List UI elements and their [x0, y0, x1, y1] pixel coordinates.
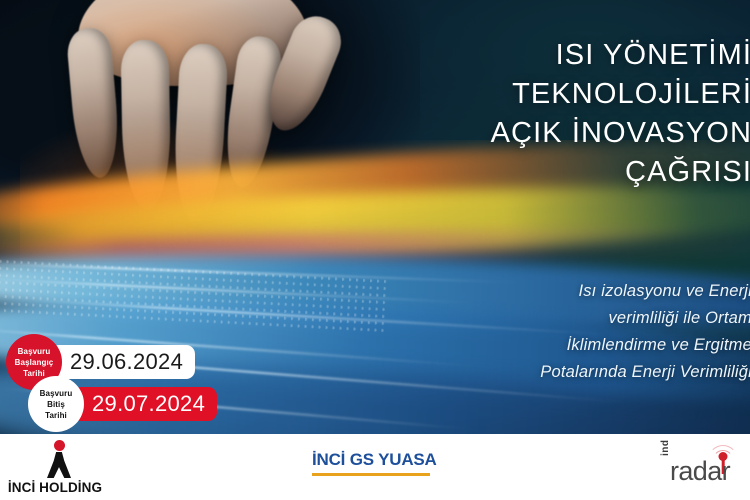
logo-ind-radar[interactable]: ind radar — [654, 444, 750, 492]
logo-inci-gs-yuasa-wordmark: İNCİ GS YUASA — [312, 450, 440, 470]
end-date-label-line-3: Tarihi — [45, 410, 67, 421]
sponsor-logo-bar: İNCİ HOLDİNG İNCİ GS YUASA ind radar — [0, 434, 750, 500]
logo-inci-gs-yuasa-underline — [312, 473, 430, 476]
person-head-icon — [54, 440, 65, 451]
page-subtitle: Isı izolasyonu ve Enerji verimliliği ile… — [422, 278, 750, 386]
logo-ind-radar-wordmark: radar — [670, 456, 730, 487]
headline-line-1: ISI YÖNETİMİ — [422, 36, 750, 75]
person-body-icon — [47, 452, 71, 478]
promo-poster: ISI YÖNETİMİ TEKNOLOJİLERİ AÇIK İNOVASYO… — [0, 0, 750, 500]
logo-ind-radar-prefix: ind — [660, 440, 671, 457]
logo-inci-holding[interactable]: İNCİ HOLDİNG — [0, 440, 120, 496]
start-date-label-line-2: Başlangıç — [15, 357, 54, 368]
subtitle-line-2: verimliliği ile Ortam — [422, 305, 750, 332]
subtitle-line-3: İklimlendirme ve Ergitme — [422, 332, 750, 359]
subtitle-line-1: Isı izolasyonu ve Enerji — [422, 278, 750, 305]
logo-inci-gs-yuasa[interactable]: İNCİ GS YUASA — [312, 450, 440, 476]
end-date-label-line-1: Başvuru — [40, 388, 73, 399]
end-date-value: 29.07.2024 — [72, 387, 217, 421]
headline-line-4: ÇAĞRISI — [422, 153, 750, 192]
end-date-label-badge: Başvuru Bitiş Tarihi — [28, 376, 84, 432]
headline-line-2: TEKNOLOJİLERİ — [422, 75, 750, 114]
subtitle-line-4: Potalarında Enerji Verimliliği — [422, 359, 750, 386]
logo-inci-holding-wordmark: İNCİ HOLDİNG — [0, 480, 120, 495]
end-date-label-line-2: Bitiş — [47, 399, 65, 410]
page-title: ISI YÖNETİMİ TEKNOLOJİLERİ AÇIK İNOVASYO… — [422, 36, 750, 192]
application-end-date: Başvuru Bitiş Tarihi 29.07.2024 — [28, 376, 217, 432]
headline-line-3: AÇIK İNOVASYON — [422, 114, 750, 153]
application-dates: Başvuru Başlangıç Tarihi 29.06.2024 Başv… — [6, 334, 216, 434]
start-date-value: 29.06.2024 — [50, 345, 195, 379]
person-figure-icon — [42, 440, 76, 478]
start-date-label-line-3: Tarihi — [23, 368, 45, 379]
start-date-label-line-1: Başvuru — [18, 346, 51, 357]
